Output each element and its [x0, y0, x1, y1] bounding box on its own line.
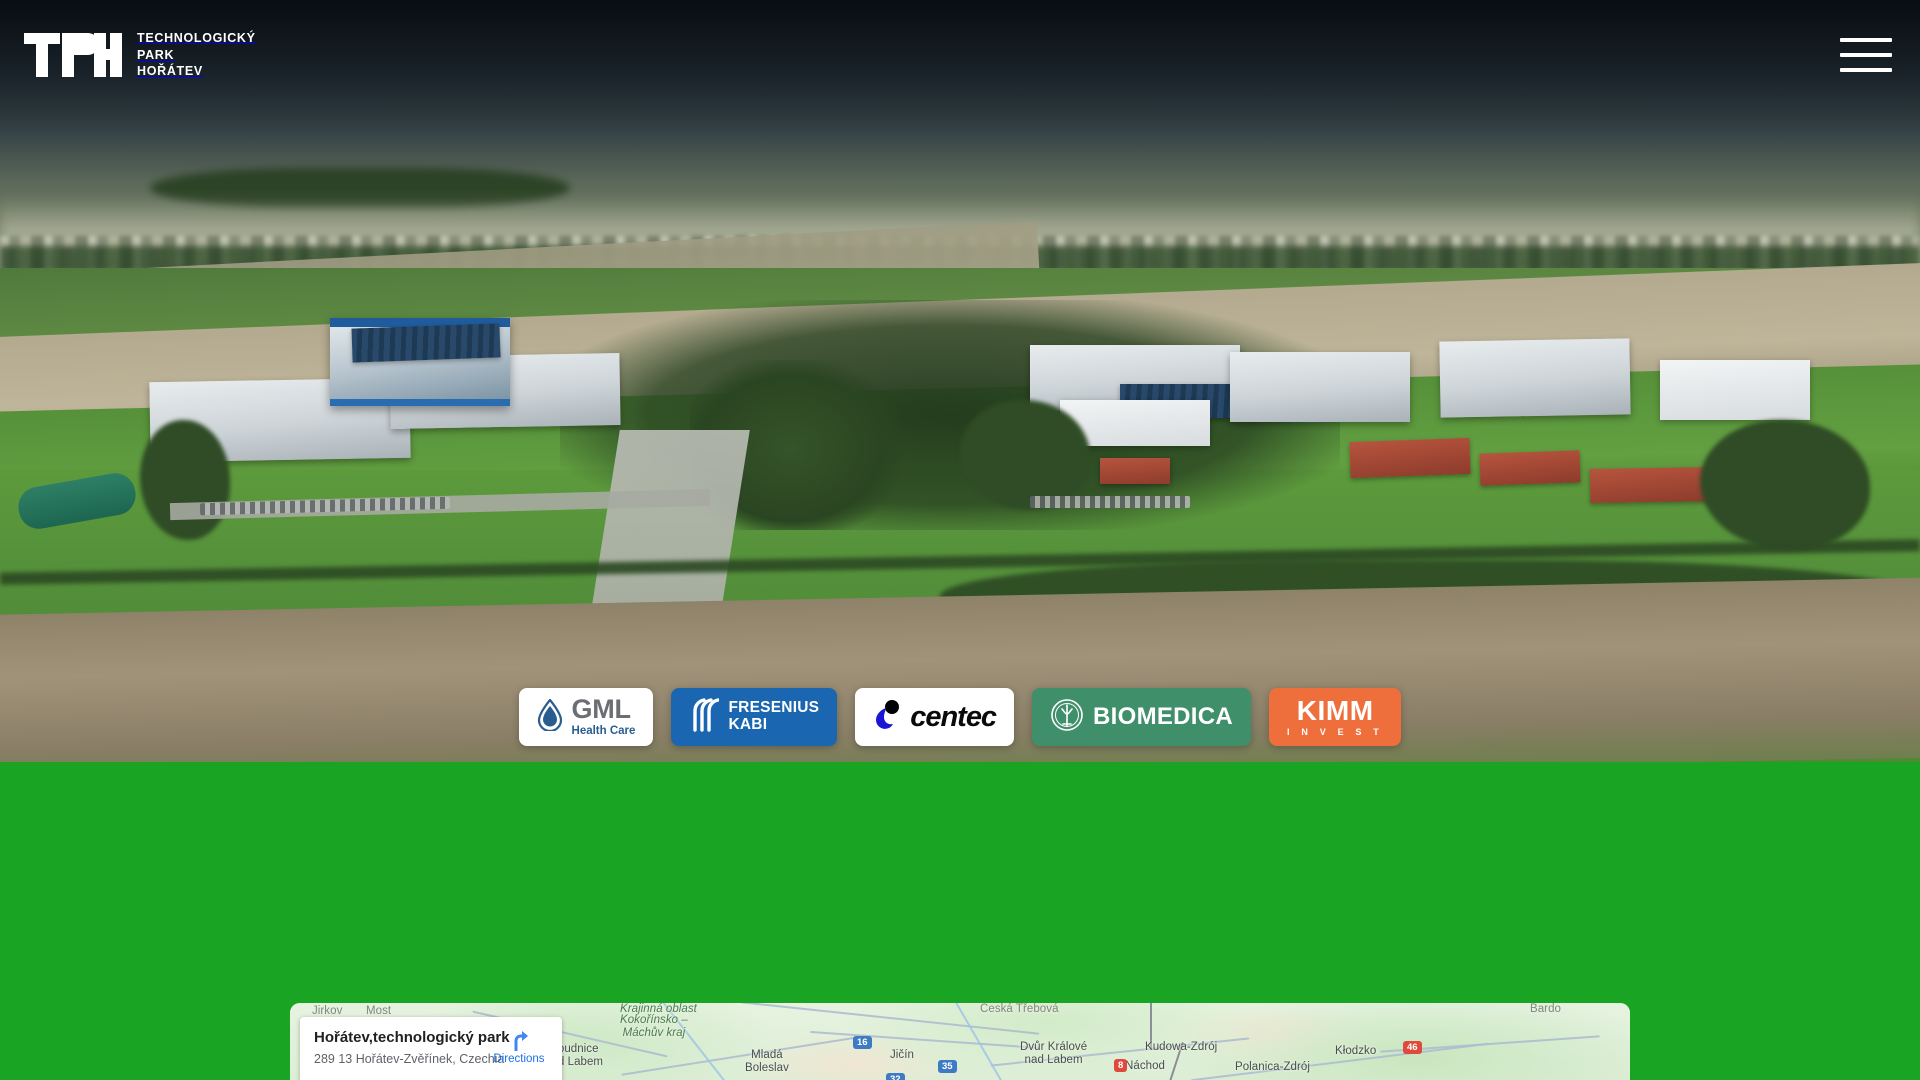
hamburger-bar-3	[1840, 68, 1892, 72]
map-road-shield: 46	[1403, 1041, 1422, 1054]
map-label: Mladá Boleslav	[745, 1049, 789, 1075]
photo-tree-a	[140, 420, 230, 540]
photo-building-east-b	[1230, 352, 1410, 422]
site-logo[interactable]: TECHNOLOGICKÝ PARK HOŘÁTEV	[24, 30, 256, 80]
photo-roof-red-d	[1100, 458, 1170, 484]
map-label: Česká Třebová	[980, 1003, 1059, 1016]
hamburger-bar-1	[1840, 38, 1892, 42]
map-directions-button[interactable]: Directions	[489, 1029, 549, 1065]
map-label: Bardo	[1530, 1003, 1561, 1016]
aerial-photo	[0, 0, 1920, 762]
partner-logo-strip: GML Health Care FRESENIUS KABI centec	[0, 686, 1920, 748]
map-road-shield: 8	[1114, 1059, 1127, 1072]
map-embed[interactable]: Hořátev,technologický park 289 13 Hořáte…	[290, 1003, 1630, 1080]
photo-roof-red-a	[1349, 438, 1470, 478]
partner-logo-gml[interactable]: GML Health Care	[519, 688, 654, 746]
logo-wordmark: TECHNOLOGICKÝ PARK HOŘÁTEV	[137, 30, 256, 80]
hamburger-menu-icon[interactable]	[1840, 38, 1892, 72]
fresenius-name: FRESENIUS	[728, 700, 819, 717]
photo-building-east-c	[1439, 338, 1630, 417]
photo-solar-panels-a	[351, 323, 500, 362]
map-label: Jičín	[890, 1049, 914, 1062]
partner-logo-kimm-invest[interactable]: KIMM I N V E S T	[1269, 688, 1402, 746]
photo-roof-red-c	[1590, 467, 1711, 503]
map-label: Kłodzko	[1335, 1045, 1376, 1058]
site-header: TECHNOLOGICKÝ PARK HOŘÁTEV	[0, 0, 1920, 110]
map-road-shield: 32	[886, 1073, 905, 1080]
map-label: Náchod	[1125, 1060, 1165, 1073]
kimm-tagline: I N V E S T	[1287, 728, 1384, 737]
hero-section	[0, 0, 1920, 762]
photo-car-park-b	[1030, 496, 1190, 508]
centec-mark-icon	[873, 699, 901, 736]
map-road-shield: 16	[853, 1036, 872, 1049]
tph-logo-mark	[24, 33, 122, 77]
photo-building-white-b	[1660, 360, 1810, 420]
map-label: Polanica-Zdrój	[1235, 1061, 1310, 1074]
partner-logo-fresenius-kabi[interactable]: FRESENIUS KABI	[671, 688, 837, 746]
partner-logo-centec[interactable]: centec	[855, 688, 1014, 746]
kimm-name: KIMM	[1297, 697, 1374, 725]
gml-droplet-icon	[537, 699, 563, 736]
biomedica-name: BIOMEDICA	[1093, 703, 1233, 731]
map-info-card[interactable]: Hořátev,technologický park 289 13 Hořáte…	[300, 1017, 562, 1080]
fresenius-waves-icon	[689, 698, 719, 737]
map-label: Kokořínsko – Máchův kraj	[620, 1014, 688, 1040]
map-label: Kudowa-Zdrój	[1145, 1041, 1217, 1054]
photo-roof-red-b	[1479, 450, 1580, 485]
biomedica-seal-icon	[1050, 697, 1084, 738]
gml-name: GML	[572, 696, 636, 723]
map-directions-label: Directions	[493, 1053, 544, 1065]
map-road-shield: 35	[938, 1060, 957, 1073]
partner-logo-biomedica[interactable]: BIOMEDICA	[1032, 688, 1251, 746]
kabi-name: KABI	[728, 717, 819, 734]
hamburger-bar-2	[1840, 53, 1892, 57]
map-label: Dvůr Králové nad Labem	[1020, 1041, 1087, 1067]
turn-right-icon	[508, 1029, 530, 1051]
gml-tagline: Health Care	[572, 726, 636, 738]
centec-name: centec	[910, 701, 996, 734]
